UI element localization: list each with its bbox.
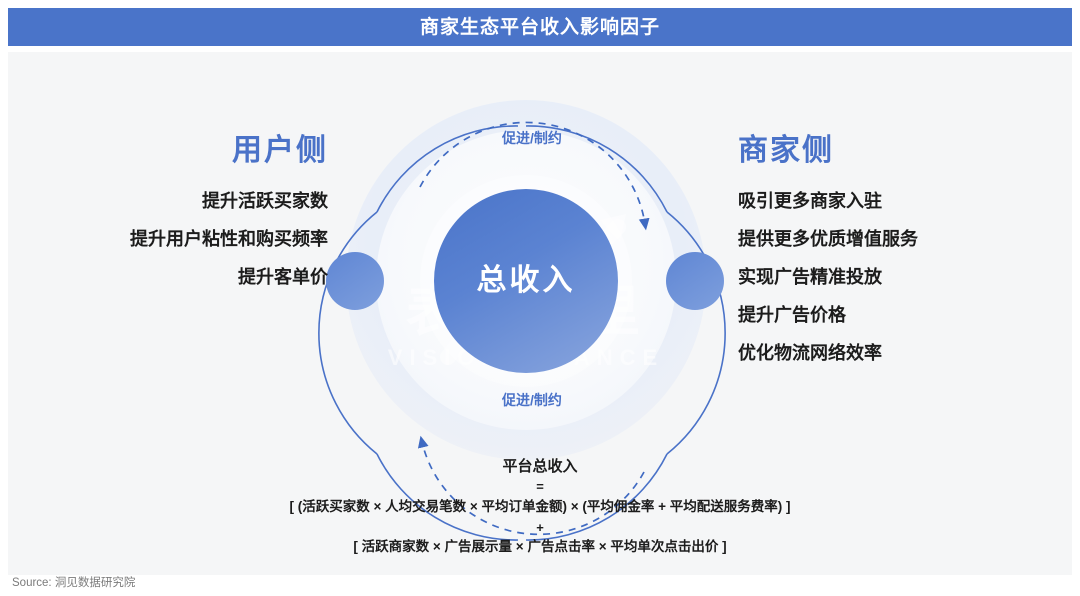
right-panel-item-3: 实现广告精准投放: [738, 268, 1038, 286]
right-panel-item-2: 提供更多优质增值服务: [738, 230, 1038, 248]
left-panel: 用户侧 提升活跃买家数 提升用户粘性和购买频率 提升客单价: [48, 136, 328, 306]
ring-arc-right: [667, 212, 725, 454]
node-user-side: [326, 252, 384, 310]
content-panel: 表外表里 VISION FINANCE: [8, 52, 1072, 575]
formula-plus: +: [8, 518, 1072, 538]
arc-label-bottom: 促进/制约: [452, 393, 612, 407]
left-panel-heading: 用户侧: [48, 136, 328, 166]
infographic-page: 商家生态平台收入影响因子 表外表里 VISION FINANCE: [0, 0, 1080, 596]
right-panel-heading: 商家侧: [738, 136, 1038, 166]
page-title: 商家生态平台收入影响因子: [420, 18, 660, 37]
center-node-label: 总收入: [477, 266, 576, 296]
source-note: Source: 洞见数据研究院: [12, 578, 135, 590]
formula-line-2: [ 活跃商家数 × 广告展示量 × 广告点击率 × 平均单次点击出价 ]: [8, 537, 1072, 558]
formula-equals: =: [8, 477, 1072, 497]
right-panel-item-1: 吸引更多商家入驻: [738, 192, 1038, 210]
formula-line-1: [ (活跃买家数 × 人均交易笔数 × 平均订单金额) × (平均佣金率 + 平…: [8, 497, 1072, 518]
left-panel-item-3: 提升客单价: [48, 268, 328, 286]
right-panel-item-5: 优化物流网络效率: [738, 344, 1038, 362]
arc-label-top: 促进/制约: [452, 131, 612, 145]
center-node: 总收入: [434, 189, 618, 373]
right-panel-item-4: 提升广告价格: [738, 306, 1038, 324]
title-bar: 商家生态平台收入影响因子: [8, 8, 1072, 46]
left-panel-item-2: 提升用户粘性和购买频率: [48, 230, 328, 248]
right-panel: 商家侧 吸引更多商家入驻 提供更多优质增值服务 实现广告精准投放 提升广告价格 …: [738, 136, 1038, 382]
formula-title: 平台总收入: [8, 457, 1072, 477]
left-panel-item-1: 提升活跃买家数: [48, 192, 328, 210]
node-merchant-side: [666, 252, 724, 310]
diagram-stage: 表外表里 VISION FINANCE: [8, 52, 1072, 575]
formula-block: 平台总收入 = [ (活跃买家数 × 人均交易笔数 × 平均订单金额) × (平…: [8, 457, 1072, 558]
